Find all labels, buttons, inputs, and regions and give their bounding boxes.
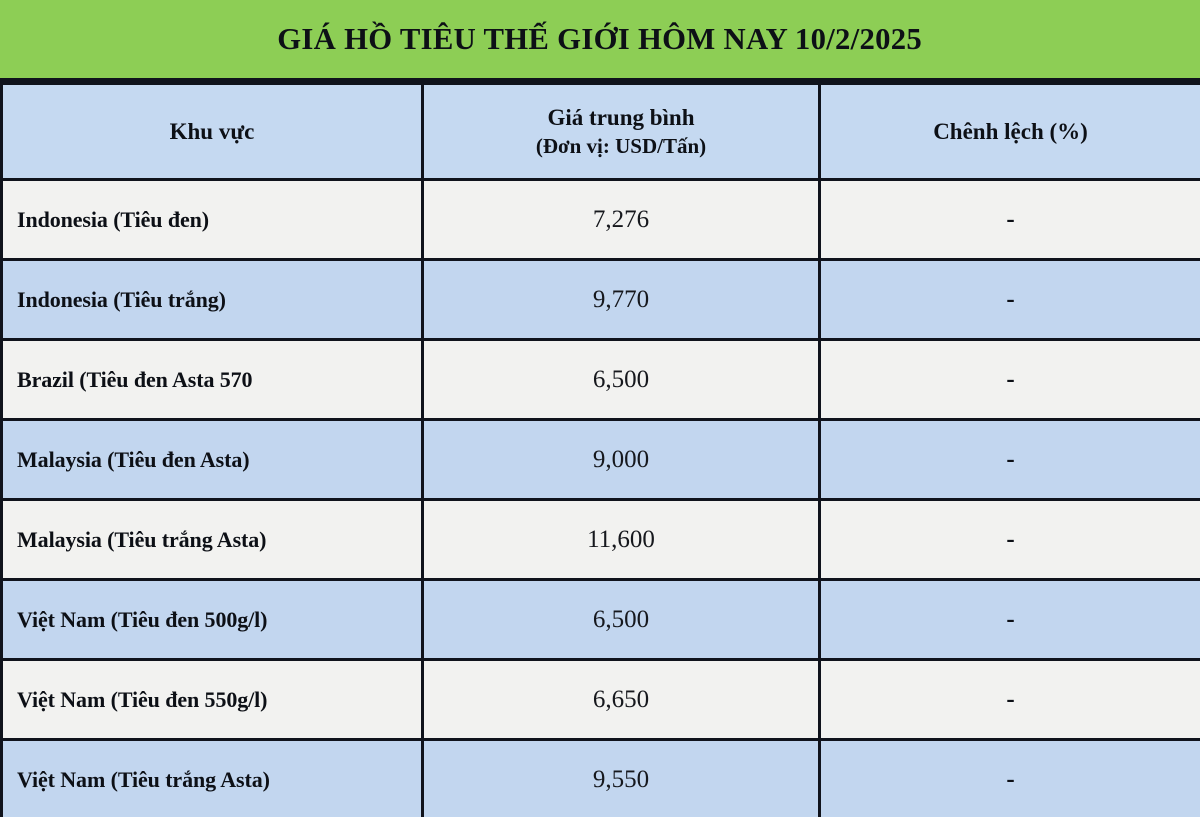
column-header-price-label: Giá trung bình	[548, 105, 695, 130]
table-row: Indonesia (Tiêu đen) 7,276 -	[2, 180, 1200, 260]
cell-price: 6,500	[423, 580, 820, 660]
page-title: GIÁ HỒ TIÊU THẾ GIỚI HÔM NAY 10/2/2025	[278, 21, 923, 57]
table-row: Malaysia (Tiêu trắng Asta) 11,600 -	[2, 500, 1200, 580]
price-table-infographic: GIÁ HỒ TIÊU THẾ GIỚI HÔM NAY 10/2/2025 D…	[0, 0, 1200, 817]
cell-change: -	[820, 740, 1200, 817]
table-row: Việt Nam (Tiêu trắng Asta) 9,550 -	[2, 740, 1200, 817]
table-row: Malaysia (Tiêu đen Asta) 9,000 -	[2, 420, 1200, 500]
cell-region: Indonesia (Tiêu trắng)	[2, 260, 423, 340]
cell-region: Malaysia (Tiêu đen Asta)	[2, 420, 423, 500]
pepper-price-table: Khu vực Giá trung bình (Đơn vị: USD/Tấn)…	[0, 82, 1200, 817]
cell-change: -	[820, 180, 1200, 260]
cell-region: Brazil (Tiêu đen Asta 570	[2, 340, 423, 420]
table-row: Indonesia (Tiêu trắng) 9,770 -	[2, 260, 1200, 340]
title-banner: GIÁ HỒ TIÊU THẾ GIỚI HÔM NAY 10/2/2025	[0, 0, 1200, 82]
cell-change: -	[820, 420, 1200, 500]
column-header-region-label: Khu vực	[170, 119, 255, 144]
cell-change: -	[820, 660, 1200, 740]
cell-price: 6,500	[423, 340, 820, 420]
cell-price: 7,276	[423, 180, 820, 260]
cell-price: 9,000	[423, 420, 820, 500]
table-row: Brazil (Tiêu đen Asta 570 6,500 -	[2, 340, 1200, 420]
table-body: Indonesia (Tiêu đen) 7,276 - Indonesia (…	[2, 180, 1200, 817]
cell-region: Việt Nam (Tiêu đen 500g/l)	[2, 580, 423, 660]
column-header-change-label: Chênh lệch (%)	[933, 119, 1088, 144]
cell-region: Malaysia (Tiêu trắng Asta)	[2, 500, 423, 580]
cell-region: Việt Nam (Tiêu trắng Asta)	[2, 740, 423, 817]
column-header-price: Giá trung bình (Đơn vị: USD/Tấn)	[423, 84, 820, 180]
cell-change: -	[820, 500, 1200, 580]
table-header: Khu vực Giá trung bình (Đơn vị: USD/Tấn)…	[2, 84, 1200, 180]
cell-price: 11,600	[423, 500, 820, 580]
cell-region: Việt Nam (Tiêu đen 550g/l)	[2, 660, 423, 740]
table-row: Việt Nam (Tiêu đen 550g/l) 6,650 -	[2, 660, 1200, 740]
cell-price: 9,550	[423, 740, 820, 817]
column-header-region: Khu vực	[2, 84, 423, 180]
cell-region: Indonesia (Tiêu đen)	[2, 180, 423, 260]
column-header-change: Chênh lệch (%)	[820, 84, 1200, 180]
cell-change: -	[820, 580, 1200, 660]
table-row: Việt Nam (Tiêu đen 500g/l) 6,500 -	[2, 580, 1200, 660]
table-header-row: Khu vực Giá trung bình (Đơn vị: USD/Tấn)…	[2, 84, 1200, 180]
cell-price: 9,770	[423, 260, 820, 340]
cell-price: 6,650	[423, 660, 820, 740]
column-header-price-unit: (Đơn vị: USD/Tấn)	[438, 133, 804, 160]
cell-change: -	[820, 260, 1200, 340]
cell-change: -	[820, 340, 1200, 420]
